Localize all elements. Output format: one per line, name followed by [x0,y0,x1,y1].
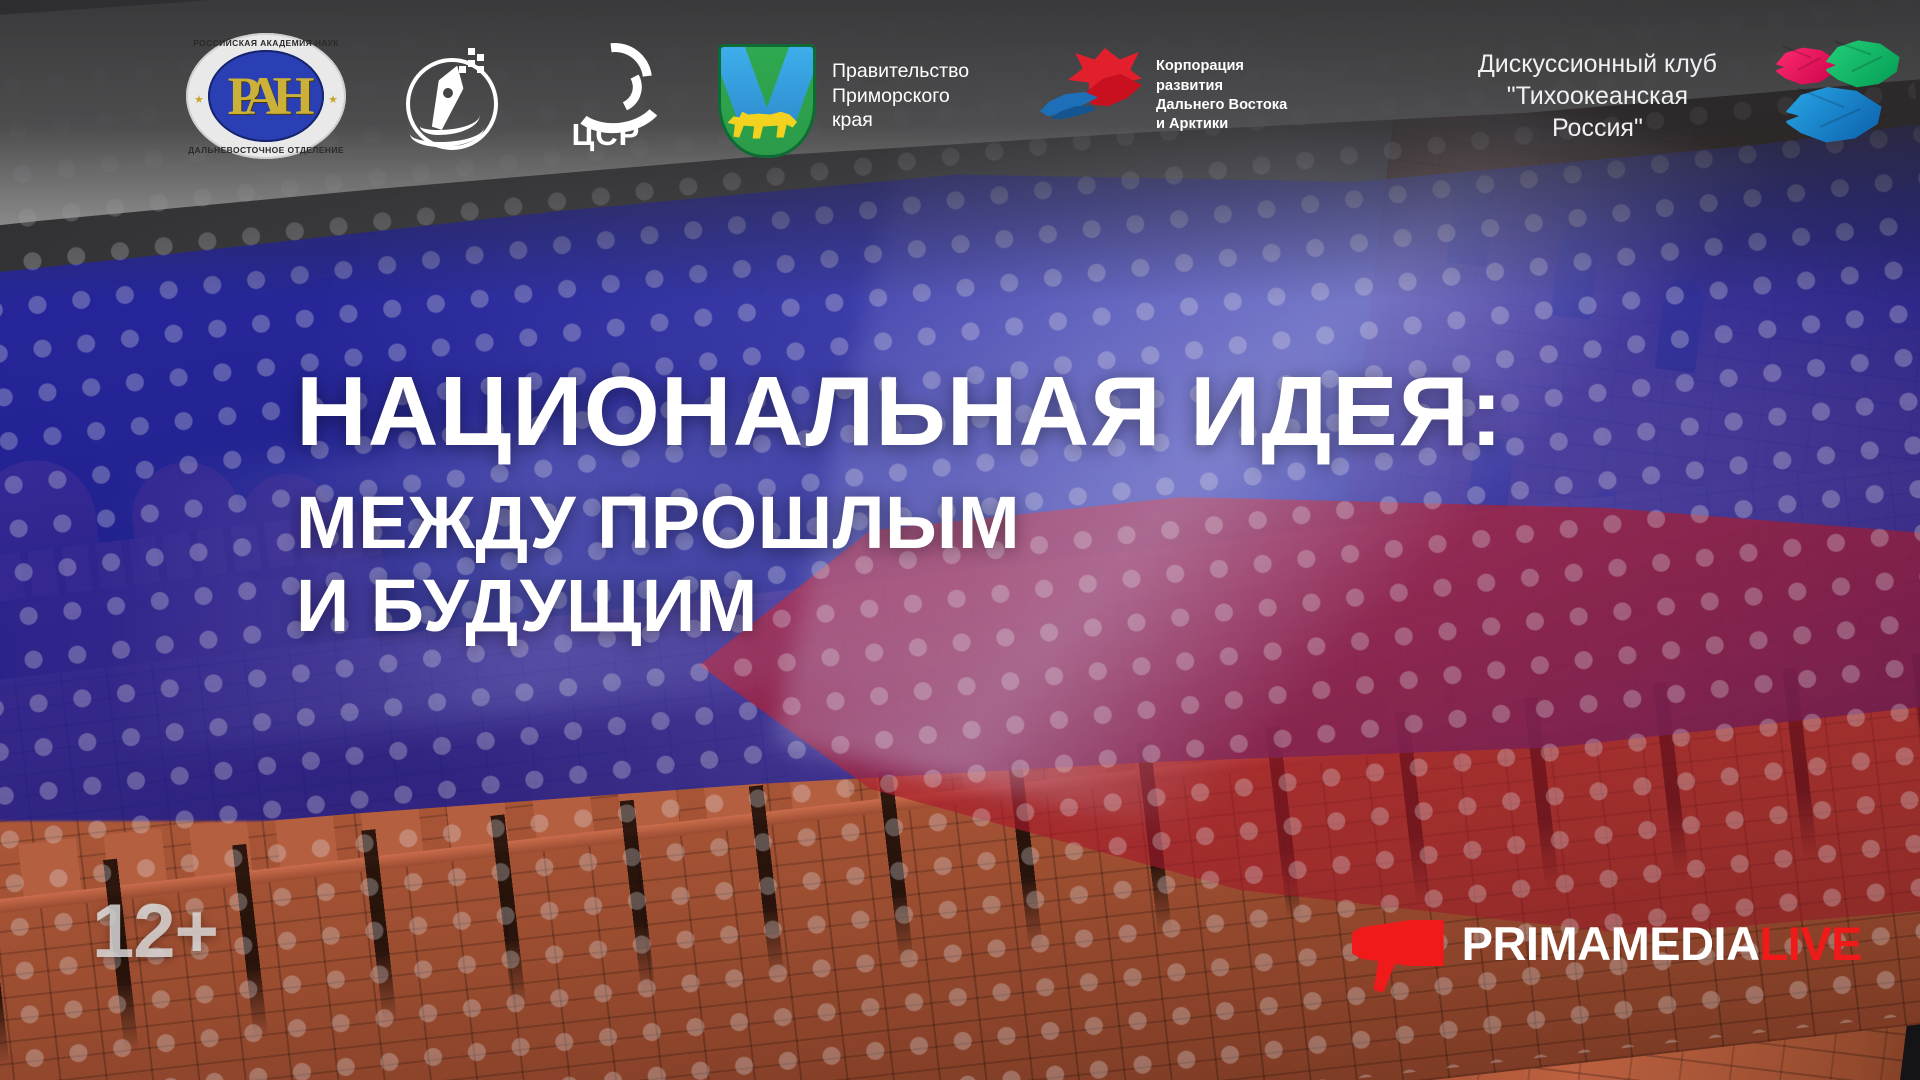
ras-arc-top-text: РОССИЙСКАЯ АКАДЕМИЯ НАУК [186,38,346,48]
poster-canvas: РОССИЙСКАЯ АКАДЕМИЯ НАУК РАН ★ ★ ДАЛЬНЕВ… [0,0,1920,1080]
prima-word: PRIMAMEDIA [1462,917,1760,970]
csr-abbr-text: ЦСР [550,117,662,153]
pixel-square [468,48,475,55]
megaphone-cone [1352,920,1444,966]
poster-subtitle-line-2: И БУДУЩИМ [296,565,1696,648]
fish-body [1786,83,1882,149]
discussion-club-fish-logo [1774,31,1920,161]
headline-block: НАЦИОНАЛЬНАЯ ИДЕЯ: МЕЖДУ ПРОШЛЫМ И БУДУЩ… [296,362,1696,648]
shield-shape [718,44,816,158]
pixel-square [477,66,484,73]
blue-diagonal [761,44,816,123]
poster-title: НАЦИОНАЛЬНАЯ ИДЕЯ: [296,362,1696,460]
corporation-label: Корпорация развития Дальнего Востока и А… [1156,57,1311,135]
ras-seal-logo: РОССИЙСКАЯ АКАДЕМИЯ НАУК РАН ★ ★ ДАЛЬНЕВ… [186,33,346,159]
discussion-club-label: Дискуссионный клуб "Тихоокеанская Россия… [1461,48,1733,144]
ras-arc-bottom-text: ДАЛЬНЕВОСТОЧНОЕ ОТДЕЛЕНИЕ [186,145,346,155]
ras-monogram: РАН [208,50,324,142]
corporation-logo-mark [1046,44,1142,148]
pen-rocket-icon [398,44,502,148]
primorsky-krai-coat-of-arms [718,38,810,154]
megaphone-icon [1352,906,1444,980]
live-word: LIVE [1760,917,1862,970]
fish-blue-icon [1786,83,1882,149]
primorsky-government-label: Правительство Приморского края [832,59,992,134]
poster-subtitle: МЕЖДУ ПРОШЛЫМ И БУДУЩИМ [296,482,1696,648]
age-rating-badge: 12+ [92,888,218,975]
sponsor-logo-row: РОССИЙСКАЯ АКАДЕМИЯ НАУК РАН ★ ★ ДАЛЬНЕВ… [0,26,1920,166]
pixel-square [459,66,466,73]
primamedia-live-logo: PRIMAMEDIALIVE [1352,906,1862,980]
pixel-square [468,60,475,67]
primamedia-wordmark: PRIMAMEDIALIVE [1462,920,1862,967]
pixel-square [477,54,484,61]
poster-subtitle-line-1: МЕЖДУ ПРОШЛЫМ [296,482,1696,565]
csr-logo: ЦСР [550,37,662,155]
seal-field: РАН [208,50,324,142]
star-icon: ★ [328,93,338,106]
star-icon: ★ [194,93,204,106]
